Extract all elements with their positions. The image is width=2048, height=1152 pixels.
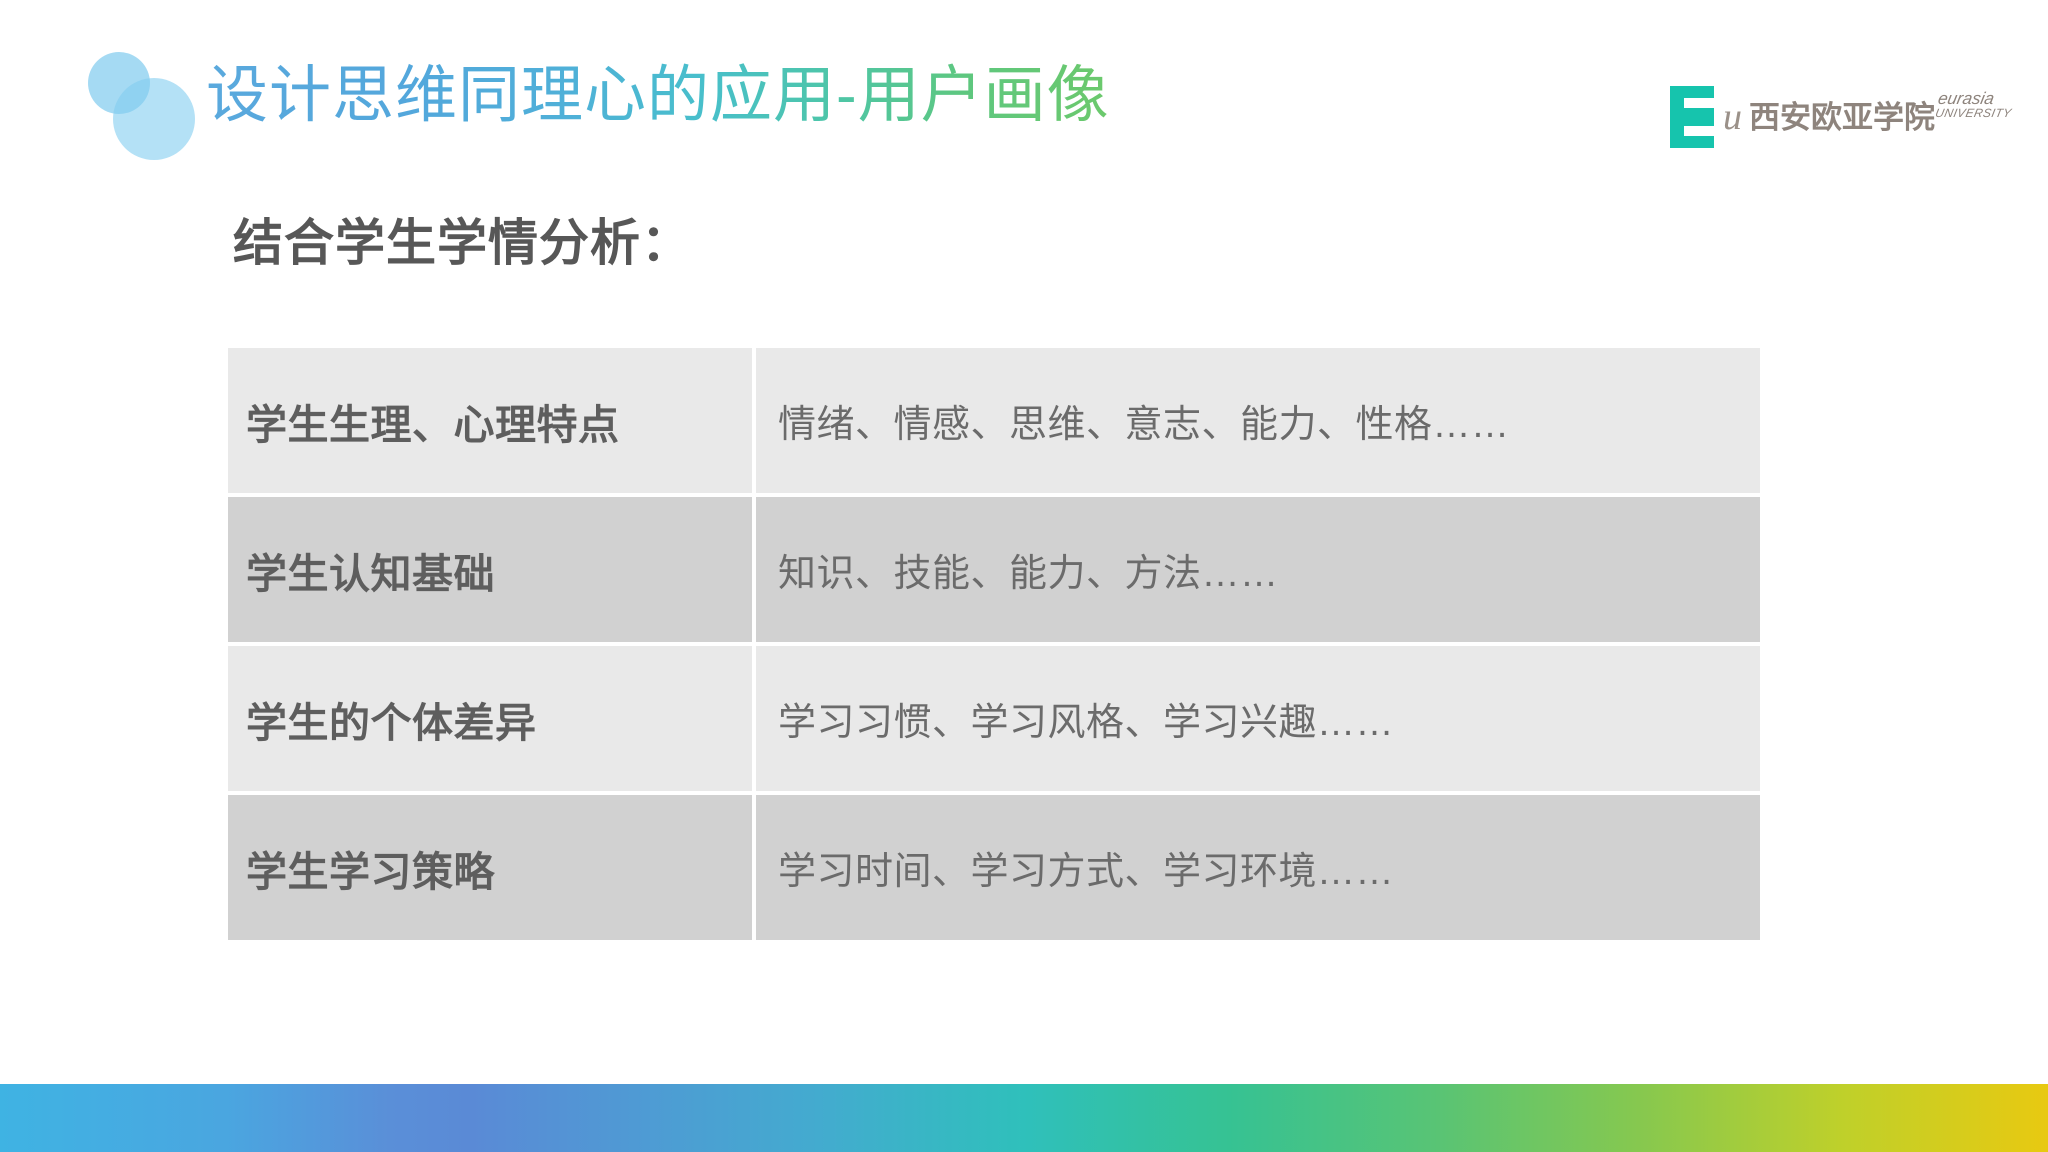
table-cell-label: 学生认知基础 (228, 497, 752, 642)
table-cell-value: 知识、技能、能力、方法…… (756, 497, 1760, 642)
table-cell-value: 情绪、情感、思维、意志、能力、性格…… (756, 348, 1760, 493)
logo-u-letter: u (1723, 98, 1742, 136)
logo-e-mark-icon (1670, 86, 1714, 148)
decorative-circle-large (113, 78, 195, 160)
slide-title: 设计思维同理心的应用-用户画像 (206, 62, 1110, 130)
table-row: 学生认知基础 知识、技能、能力、方法…… (228, 497, 1760, 642)
table-cell-label: 学生的个体差异 (228, 646, 752, 791)
slide-canvas: 设计思维同理心的应用-用户画像 u 西安欧亚学院 eurasia UNIVERS… (0, 0, 2048, 1152)
table-cell-label: 学生生理、心理特点 (228, 348, 752, 493)
table-cell-value: 学习时间、学习方式、学习环境…… (756, 795, 1760, 940)
logo-chinese-name: 西安欧亚学院 (1749, 102, 1935, 133)
logo-english-bottom: UNIVERSITY (1934, 107, 2013, 120)
table-row: 学生学习策略 学习时间、学习方式、学习环境…… (228, 795, 1760, 940)
table-cell-label: 学生学习策略 (228, 795, 752, 940)
table-cell-value: 学习习惯、学习风格、学习兴趣…… (756, 646, 1760, 791)
decorative-circles (88, 52, 198, 152)
university-logo: u 西安欧亚学院 eurasia UNIVERSITY (1670, 86, 2013, 148)
section-subtitle: 结合学生学情分析： (233, 203, 692, 275)
logo-english-name: eurasia UNIVERSITY (1934, 90, 2016, 120)
table-row: 学生生理、心理特点 情绪、情感、思维、意志、能力、性格…… (228, 348, 1760, 493)
logo-english-top: eurasia (1937, 90, 2016, 107)
footer-gradient-bar (0, 1084, 2048, 1152)
table-row: 学生的个体差异 学习习惯、学习风格、学习兴趣…… (228, 646, 1760, 791)
student-analysis-table: 学生生理、心理特点 情绪、情感、思维、意志、能力、性格…… 学生认知基础 知识、… (228, 348, 1760, 940)
